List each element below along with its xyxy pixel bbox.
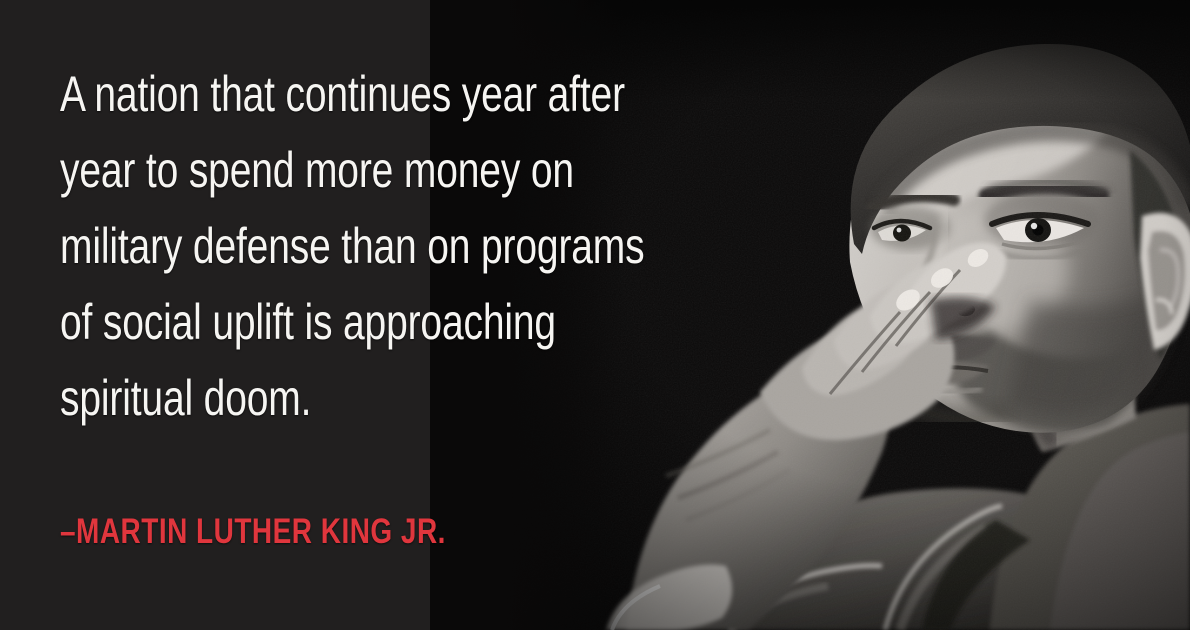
quote-line-2: year to spend more money on (60, 132, 606, 208)
quote-line-1: A nation that continues year after (60, 56, 606, 132)
quote-line-5: spiritual doom. (60, 360, 606, 436)
quote-line-4: of social uplift is approaching (60, 284, 606, 360)
quote-card: A nation that continues year after year … (0, 0, 1190, 630)
quote-line-3: military defense than on programs (60, 208, 606, 284)
quote-attribution: –MARTIN LUTHER KING JR. (60, 512, 446, 552)
quote-text: A nation that continues year after year … (60, 56, 760, 436)
